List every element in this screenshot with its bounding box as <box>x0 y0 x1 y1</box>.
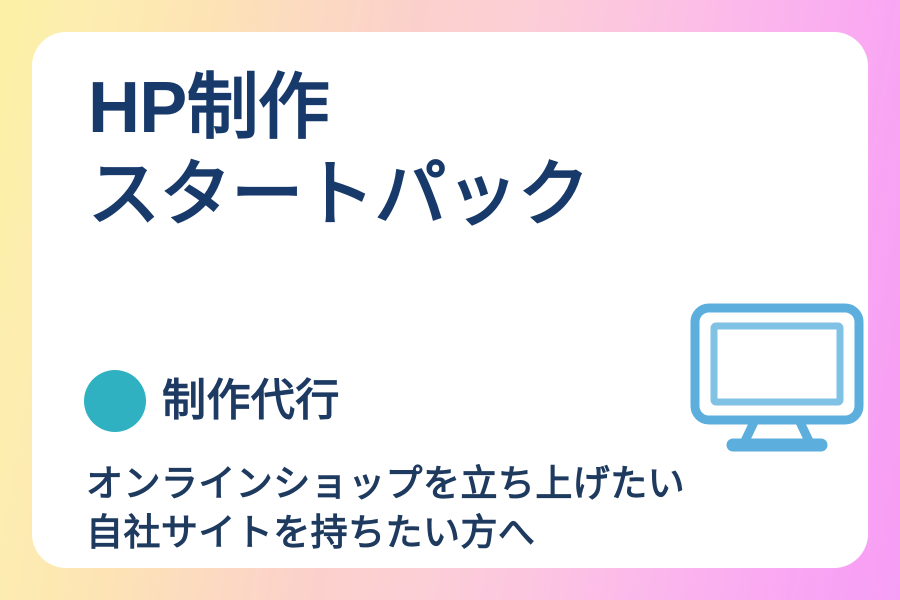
title-line-1: HP制作 <box>88 72 589 145</box>
service-tag: 制作代行 <box>84 370 340 432</box>
promo-banner: HP制作 スタートパック 制作代行 オンラインショップを立ち上げたい 自社サイト… <box>0 0 900 600</box>
service-tag-label: 制作代行 <box>162 379 340 423</box>
description-line-2: 自社サイトを持ちたい方へ <box>86 509 685 558</box>
description-line-1: オンラインショップを立ち上げたい <box>86 460 685 509</box>
page-title: HP制作 スタートパック <box>88 72 589 236</box>
description-text: オンラインショップを立ち上げたい 自社サイトを持ちたい方へ <box>86 460 685 558</box>
bullet-dot-icon <box>84 370 146 432</box>
title-line-2: スタートパック <box>88 155 589 236</box>
desktop-monitor-icon <box>687 300 867 455</box>
white-card: HP制作 スタートパック 制作代行 オンラインショップを立ち上げたい 自社サイト… <box>32 32 868 568</box>
